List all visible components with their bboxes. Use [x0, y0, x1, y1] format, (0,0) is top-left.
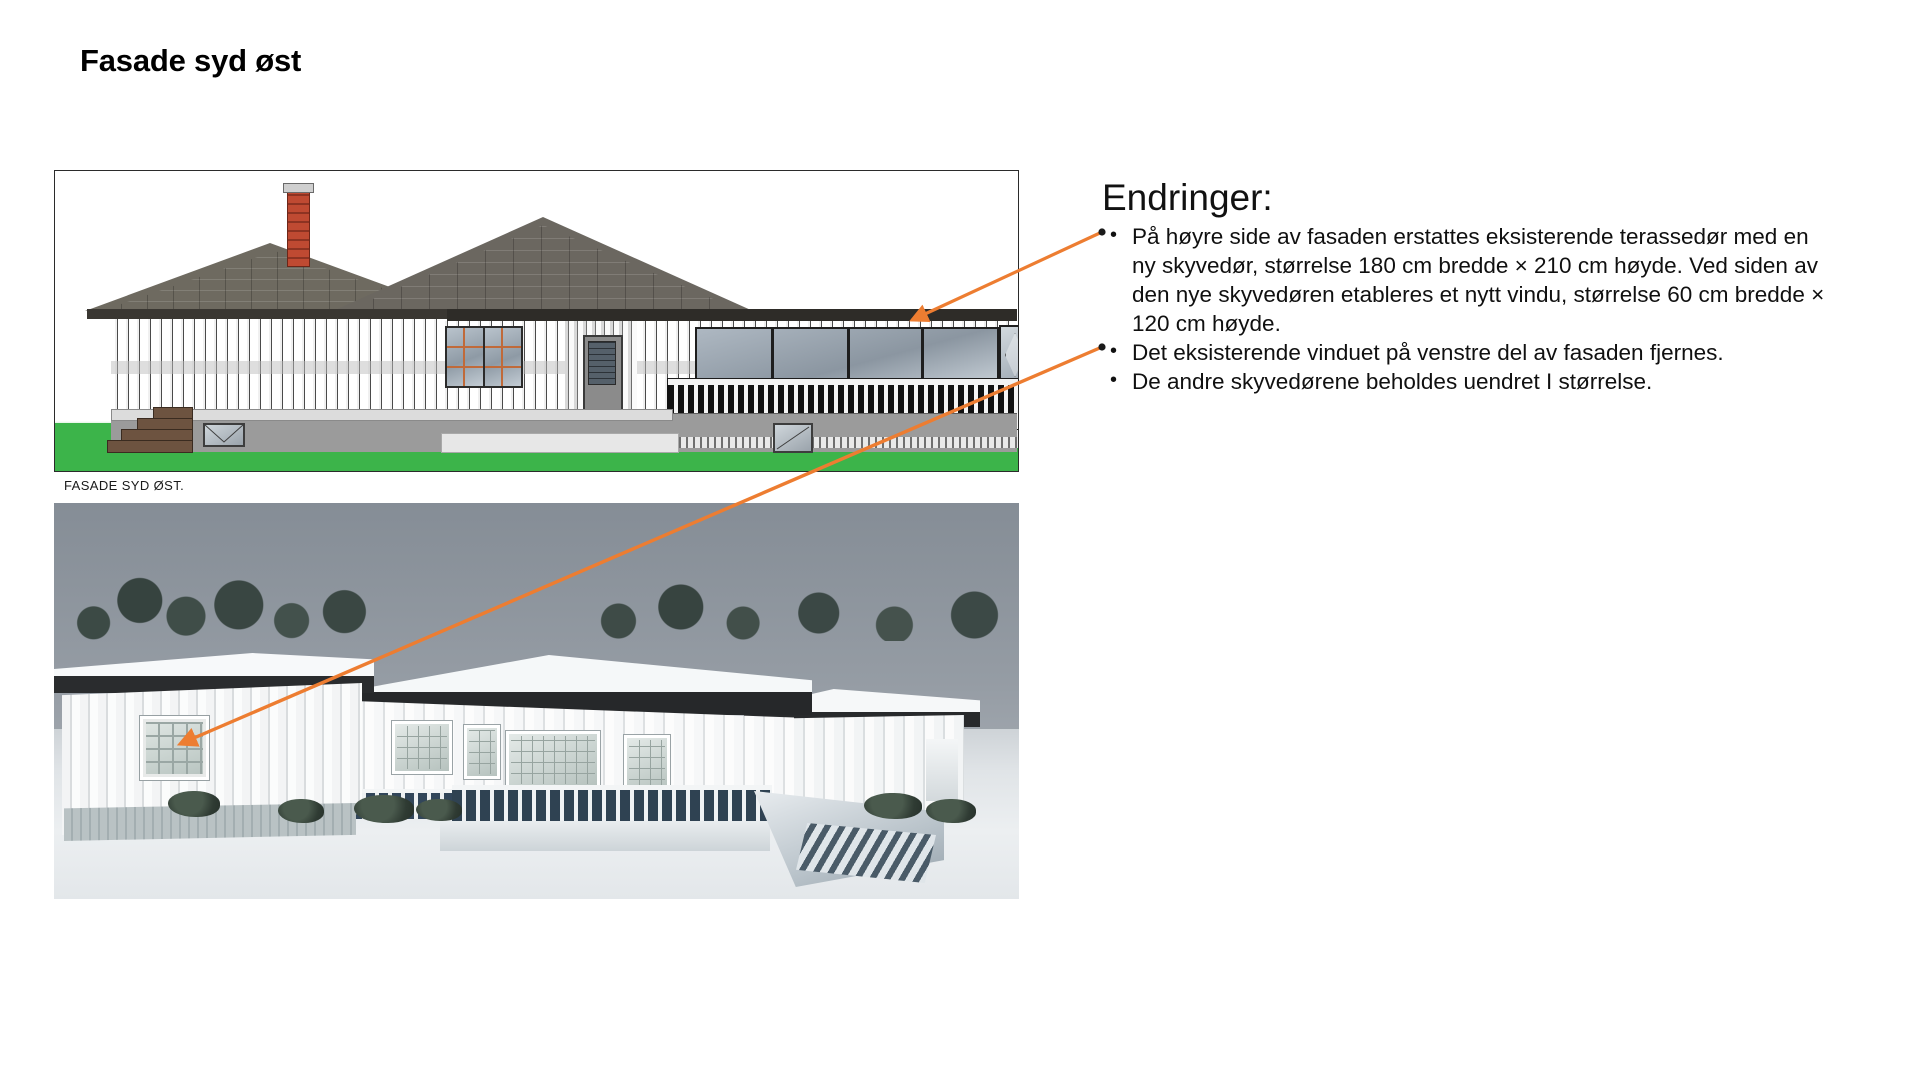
list-item: De andre skyvedørene beholdes uendret I …: [1132, 367, 1832, 396]
photo-deck-front: [440, 821, 770, 851]
basement-window-left[interactable]: [203, 423, 245, 447]
basement-window-cross-icon: [205, 425, 243, 445]
photo-existing-window-to-be-removed[interactable]: [140, 716, 209, 780]
list-item: På høyre side av fasaden erstattes eksis…: [1132, 222, 1832, 338]
elevation-window-left-a[interactable]: [445, 326, 485, 388]
elevation-new-window-target[interactable]: [999, 325, 1019, 385]
elevation-window-left-b[interactable]: [483, 326, 523, 388]
bush-6: [926, 799, 976, 823]
photo-window-large[interactable]: [506, 731, 600, 789]
deck-strip: [441, 433, 679, 453]
bush-2: [278, 799, 324, 823]
facade-elevation-drawing[interactable]: [54, 170, 1019, 472]
treeline-right: [574, 541, 1019, 641]
chimney-cap: [283, 183, 314, 193]
foundation-top-edge: [111, 409, 673, 421]
changes-list: På høyre side av fasaden erstattes eksis…: [1102, 222, 1832, 396]
drawing-caption: FASADE SYD ØST.: [64, 478, 184, 493]
chimney-icon: [287, 189, 310, 267]
entry-door-glass: [588, 341, 616, 385]
treeline-left: [54, 531, 384, 643]
fascia-right: [447, 309, 1017, 321]
changes-panel: Endringer: På høyre side av fasaden erst…: [1102, 178, 1832, 396]
bush-4: [416, 799, 462, 821]
winter-photo-of-house-facade[interactable]: [54, 503, 1019, 899]
basement-window-diagonal-icon: [775, 425, 811, 451]
photo-door-patio[interactable]: [464, 725, 500, 779]
elevation-terrace-windows[interactable]: [695, 327, 999, 381]
photo-window-1[interactable]: [392, 721, 452, 774]
bush-1: [168, 791, 220, 817]
changes-heading: Endringer:: [1102, 178, 1832, 218]
bush-3: [354, 795, 414, 823]
foundation-detail-band: [667, 437, 1019, 448]
list-item: Det eksisterende vinduet på venstre del …: [1132, 338, 1832, 367]
page-title: Fasade syd øst: [80, 43, 301, 79]
exterior-steps: [107, 407, 191, 453]
fascia-left: [87, 309, 447, 319]
basement-window-right[interactable]: [773, 423, 813, 453]
photo-pillar: [926, 739, 958, 801]
bush-5: [864, 793, 922, 819]
